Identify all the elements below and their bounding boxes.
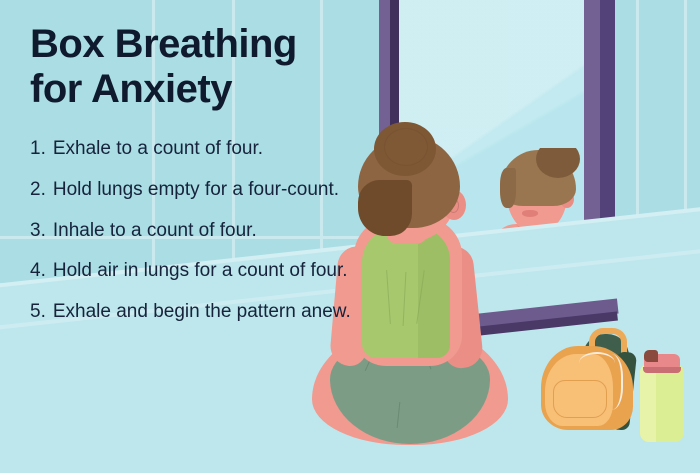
step-text: Inhale to a count of four. [53, 220, 360, 243]
step-number: 2. [30, 179, 53, 202]
title-line-1: Box Breathing [30, 22, 370, 67]
bottle-highlight [640, 364, 656, 442]
step-text: Exhale and begin the pattern anew. [53, 301, 360, 324]
title-line-2: for Anxiety [30, 67, 370, 112]
list-item: 4. Hold air in lungs for a count of four… [30, 260, 360, 283]
list-item: 5. Exhale and begin the pattern anew. [30, 301, 360, 324]
page-title: Box Breathing for Anxiety [30, 22, 370, 112]
steps-list: 1. Exhale to a count of four. 2. Hold lu… [30, 138, 360, 342]
list-item: 2. Hold lungs empty for a four-count. [30, 179, 360, 202]
step-text: Hold air in lungs for a count of four. [53, 260, 360, 283]
back-hair-bun-highlight [384, 128, 428, 166]
step-number: 1. [30, 138, 53, 161]
back-hair-shadow [358, 180, 412, 236]
bottle-cap-rim [643, 367, 681, 373]
orange-backpack [535, 332, 655, 442]
step-text: Exhale to a count of four. [53, 138, 360, 161]
step-number: 4. [30, 260, 53, 283]
backpack-zipper-top [579, 352, 615, 374]
step-number: 3. [30, 220, 53, 243]
list-item: 1. Exhale to a count of four. [30, 138, 360, 161]
water-bottle [638, 348, 686, 442]
step-number: 5. [30, 301, 53, 324]
step-text: Hold lungs empty for a four-count. [53, 179, 360, 202]
list-item: 3. Inhale to a count of four. [30, 220, 360, 243]
infographic-canvas: Box Breathing for Anxiety 1. Exhale to a… [0, 0, 700, 473]
bottle-cap-shadow [644, 350, 658, 362]
reflection-lips [522, 210, 538, 217]
back-tank-top-shadow [418, 228, 450, 358]
